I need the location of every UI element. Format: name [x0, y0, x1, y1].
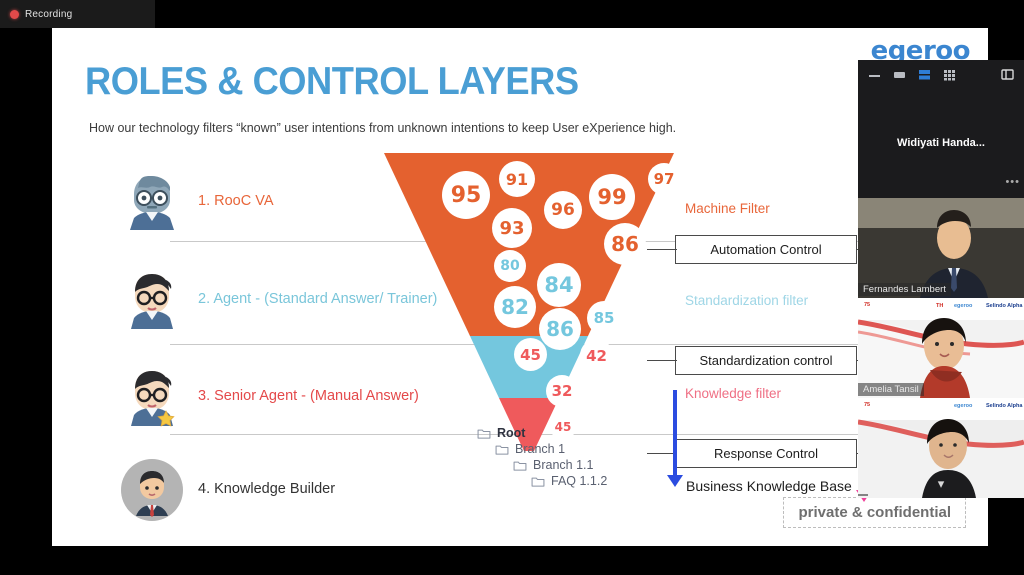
tree-node-branch-1[interactable]: Branch 1 [495, 442, 607, 456]
sidebar-view-icon[interactable] [918, 68, 931, 81]
business-knowledge-base-label: Business Knowledge Base [686, 478, 852, 494]
blue-flow-arrow [673, 390, 677, 478]
banner-egeroo-text-2: egeroo [954, 403, 972, 409]
chevron-down-icon[interactable]: ▾ [938, 476, 945, 492]
recording-label: Recording [25, 9, 72, 20]
screen: Recording egeroo ROLES & CONTROL LAYERS … [0, 0, 1024, 575]
minimize-icon[interactable] [868, 68, 881, 81]
folder-icon [477, 428, 491, 439]
knowledge-builder-avatar-icon [120, 458, 184, 522]
video-tile-2[interactable]: 75 TH egeroo Selindo Alpha Amelia Tansil [858, 298, 1024, 398]
funnel-bubble-13: 42 [580, 339, 613, 372]
connector-automation [647, 249, 677, 250]
banner-logo-text: TH [936, 303, 943, 309]
funnel-bubble-12: 45 [514, 338, 547, 371]
funnel-bubble-0: 95 [442, 171, 490, 219]
funnel-bubble-9: 82 [494, 286, 536, 328]
banner-75th-text-2: 75 [864, 402, 870, 408]
funnel-bubble-4: 99 [589, 174, 635, 220]
folder-icon [531, 476, 545, 487]
agent-avatar-icon [120, 268, 184, 332]
connector-standardization [647, 360, 677, 361]
more-options-icon[interactable]: ••• [1005, 176, 1020, 188]
popout-icon[interactable] [1001, 68, 1014, 81]
participant-name-2: Amelia Tansil [858, 383, 924, 396]
funnel-bubble-1: 91 [499, 161, 535, 197]
blue-arrow-head-icon [667, 475, 683, 487]
tree-node-root-label: Root [497, 426, 525, 440]
speaker-view-icon[interactable] [893, 68, 906, 81]
role-row-knowledge-builder: 4. Knowledge Builder [120, 458, 470, 522]
funnel-bubble-5: 97 [648, 163, 680, 195]
banner-75th-text: 75 [864, 302, 870, 308]
confidential-badge: private & confidential [783, 497, 966, 528]
knowledge-tree: Root Branch 1 Branch 1.1 FAQ 1.1.2 [477, 426, 607, 490]
funnel-bubble-7: 80 [494, 250, 526, 282]
video-tile-1[interactable]: Fernandes Lambert [858, 198, 1024, 298]
page-title: ROLES & CONTROL LAYERS [85, 60, 579, 104]
funnel-bubble-6: 86 [604, 223, 646, 265]
recording-indicator: Recording [0, 0, 155, 28]
role-label-knowledge-builder: 4. Knowledge Builder [198, 480, 335, 499]
banner-egeroo-text: egeroo [954, 303, 972, 309]
funnel-chart: 95919396999786808482868545423245 [384, 153, 674, 453]
filter-label-machine: Machine Filter [685, 201, 770, 216]
funnel-bubble-11: 85 [587, 301, 621, 335]
video-conference-panel: Widiyati Handa... ⚭ ••• Fernandes Lamber… [858, 60, 1024, 478]
tree-node-faq-1-1-2-label: FAQ 1.1.2 [551, 474, 607, 488]
video-tile-3[interactable]: 75 egeroo Selindo Alpha ▾ [858, 398, 1024, 498]
funnel-bubble-3: 96 [544, 191, 582, 229]
video-window-toolbar [858, 60, 1024, 88]
senior-agent-avatar-icon [120, 365, 184, 429]
active-speaker-name: Widiyati Handa... [858, 88, 1024, 198]
control-box-response[interactable]: Response Control [675, 439, 857, 468]
robot-avatar-icon [120, 170, 184, 234]
banner-selindo-text: Selindo Alpha [986, 303, 1022, 309]
tree-node-branch-1-1-label: Branch 1.1 [533, 458, 593, 472]
filter-label-standardization: Standardization filter [685, 293, 808, 308]
participant-name-1: Fernandes Lambert [858, 283, 951, 296]
gallery-view-icon[interactable] [943, 68, 956, 81]
funnel-bubble-14: 32 [546, 375, 578, 407]
slide-subtitle: How our technology filters “known” user … [89, 121, 676, 135]
tree-node-root[interactable]: Root [477, 426, 607, 440]
funnel-bubble-8: 84 [537, 263, 581, 307]
banner-selindo-text-2: Selindo Alpha [986, 403, 1022, 409]
folder-icon [495, 444, 509, 455]
tree-node-branch-1-1[interactable]: Branch 1.1 [513, 458, 607, 472]
control-box-standardization[interactable]: Standardization control [675, 346, 857, 375]
tree-node-branch-1-label: Branch 1 [515, 442, 565, 456]
recording-dot-icon [10, 10, 19, 19]
folder-icon [513, 460, 527, 471]
control-box-automation[interactable]: Automation Control [675, 235, 857, 264]
filter-label-knowledge: Knowledge filter [685, 386, 781, 401]
funnel-bubble-2: 93 [492, 208, 532, 248]
participant-name-3 [858, 494, 868, 496]
role-label-rooc-va: 1. RooC VA [198, 192, 274, 211]
funnel-bubble-10: 86 [539, 308, 581, 350]
tree-node-faq-1-1-2[interactable]: FAQ 1.1.2 [531, 474, 607, 488]
presentation-slide: egeroo ROLES & CONTROL LAYERS How our te… [52, 28, 988, 546]
